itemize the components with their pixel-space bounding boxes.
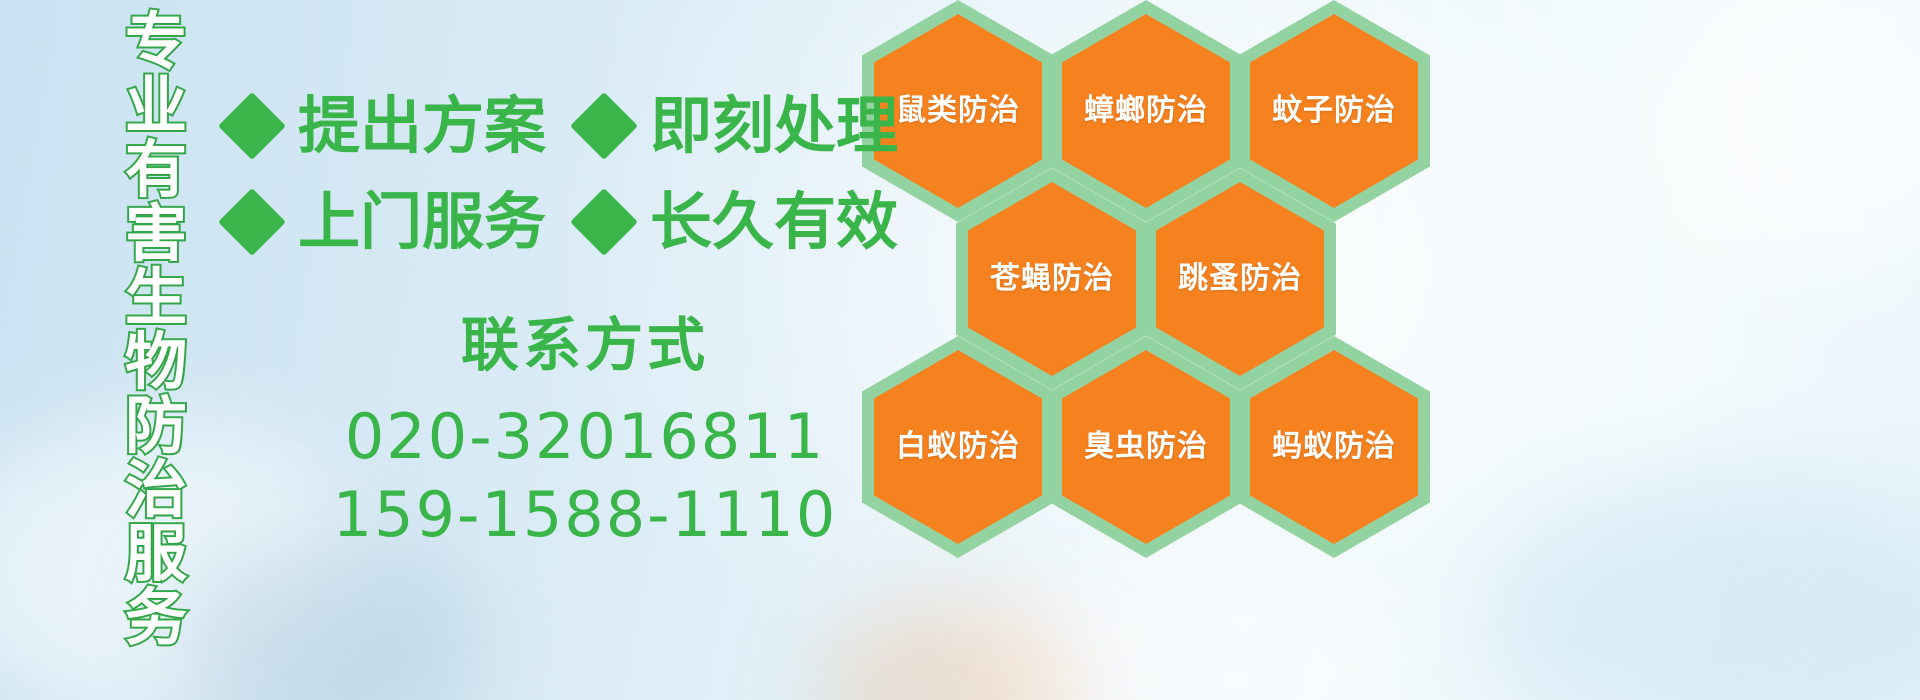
service-honeycomb: 鼠类防治 蟑螂防治 蚊子防治 苍蝇防治 跳蚤防治 [856,0,1476,700]
service-label: 苍蝇防治 [990,262,1114,296]
service-hex-bedbug[interactable]: 臭虫防治 [1050,336,1242,558]
background-blob [1480,470,1920,700]
service-label: 蚊子防治 [1272,94,1396,128]
service-label: 白蚁防治 [896,430,1020,464]
service-label: 蚂蚁防治 [1272,430,1396,464]
contact-phone-landline[interactable]: 020-32016811 [300,398,870,476]
contact-title: 联系方式 [300,310,870,380]
vertical-headline-char: 物 [125,330,187,394]
diamond-icon [218,188,286,256]
vertical-headline-char: 服 [125,522,187,586]
service-hex-ant[interactable]: 蚂蚁防治 [1238,336,1430,558]
vertical-headline-char: 生 [125,266,187,330]
pest-control-banner: 专 业 有 害 生 物 防 治 服 务 提出方案 即刻处理 上门服务 长久有效 … [0,0,1920,700]
service-label: 蟑螂防治 [1084,94,1208,128]
vertical-headline-char: 专 [125,10,187,74]
feature-label: 提出方案 [298,95,546,157]
diamond-icon [218,92,286,160]
vertical-headline-char: 治 [125,458,187,522]
contact-phone-mobile[interactable]: 159-1588-1110 [300,476,870,554]
vertical-headline-char: 有 [125,138,187,202]
feature-label: 长久有效 [650,191,898,253]
diamond-icon [570,92,638,160]
service-label: 跳蚤防治 [1178,262,1302,296]
feature-label: 上门服务 [298,191,546,253]
vertical-headline-char: 害 [125,202,187,266]
service-label: 臭虫防治 [1084,430,1208,464]
vertical-headline-char: 防 [125,394,187,458]
service-hex-termite[interactable]: 白蚁防治 [862,336,1054,558]
feature-list: 提出方案 即刻处理 上门服务 长久有效 [228,78,868,270]
vertical-headline-char: 业 [125,74,187,138]
service-label: 鼠类防治 [896,94,1020,128]
background-blob [180,540,480,700]
vertical-headline-char: 务 [125,586,187,650]
feature-row: 提出方案 即刻处理 [228,78,868,174]
background-blob [1660,0,1920,280]
contact-block: 联系方式 020-32016811 159-1588-1110 [300,310,870,554]
diamond-icon [570,188,638,256]
vertical-headline: 专 业 有 害 生 物 防 治 服 务 [104,10,208,590]
feature-row: 上门服务 长久有效 [228,174,868,270]
feature-label: 即刻处理 [650,95,898,157]
